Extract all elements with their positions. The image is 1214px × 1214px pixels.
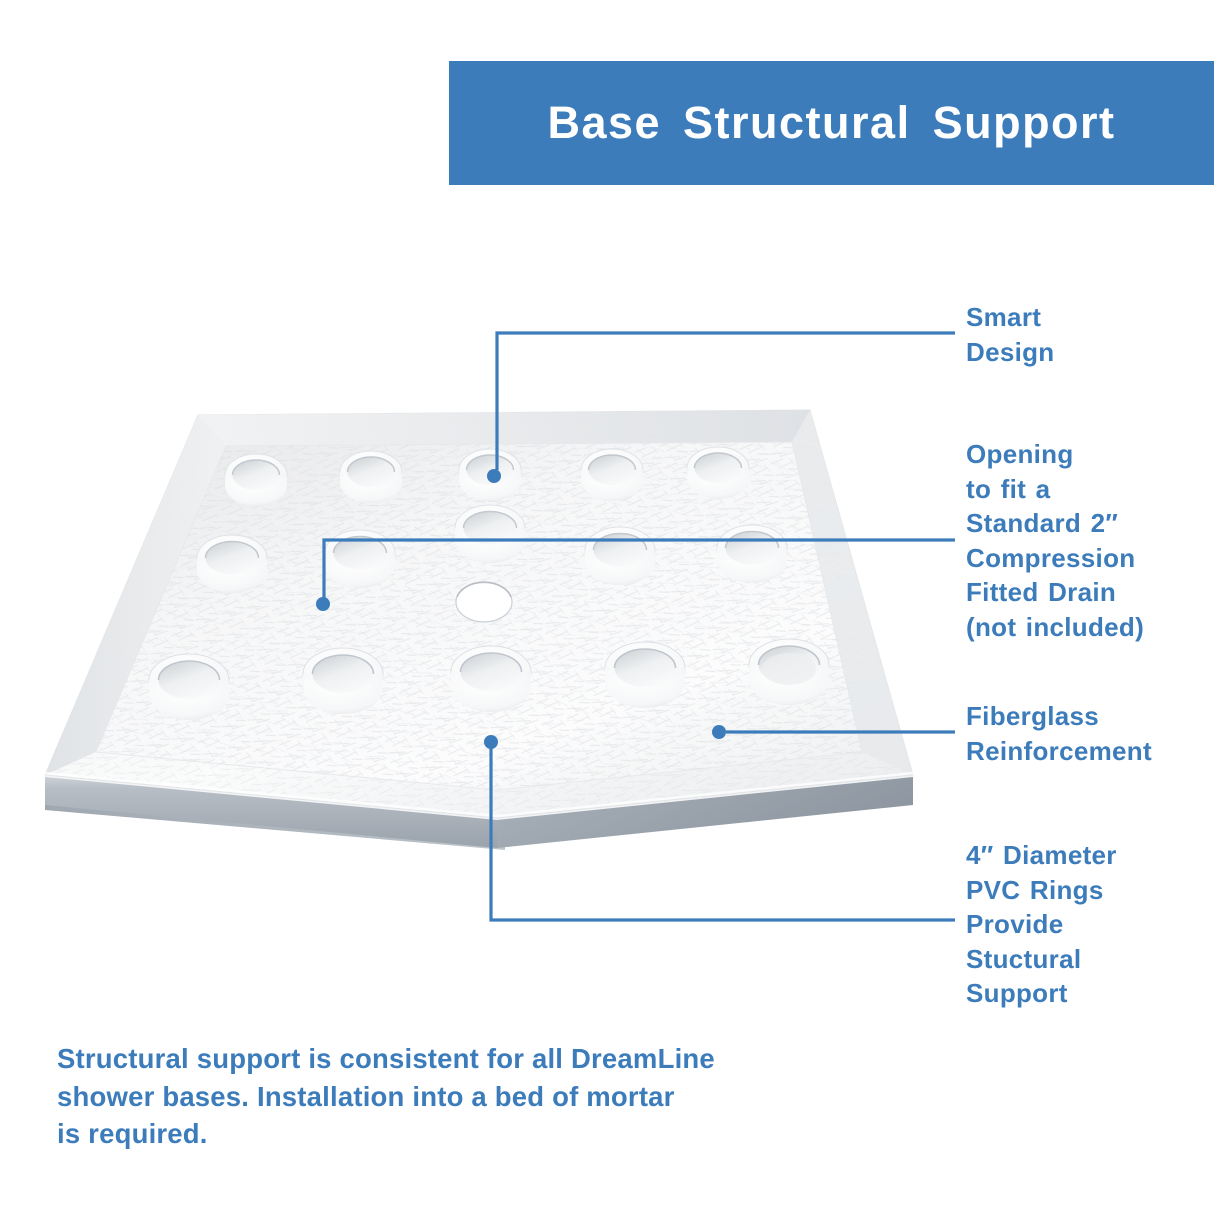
callout-line: 4″ Diameter: [966, 838, 1117, 873]
callout-line: PVC Rings: [966, 873, 1117, 908]
callout-line: Provide: [966, 907, 1117, 942]
callout-line: Compression: [966, 541, 1144, 576]
callout-smart-design: Smart Design: [966, 300, 1054, 369]
callout-opening: Opening to fit a Standard 2″ Compression…: [966, 437, 1144, 644]
callout-line: Standard 2″: [966, 506, 1144, 541]
pvc-ring: [459, 449, 521, 501]
callout-line: Support: [966, 976, 1117, 1011]
pvc-ring: [197, 535, 267, 593]
pvc-ring: [605, 642, 685, 708]
pvc-ring: [149, 654, 229, 720]
callout-line: Smart: [966, 300, 1054, 335]
pvc-ring: [303, 648, 383, 714]
pvc-ring: [340, 451, 402, 503]
drain-opening: [456, 582, 512, 622]
caption-line: shower bases. Installation into a bed of…: [57, 1078, 817, 1116]
pvc-ring: [687, 447, 749, 499]
callout-line: Opening: [966, 437, 1144, 472]
pvc-ring: [581, 449, 643, 501]
caption-line: is required.: [57, 1115, 817, 1153]
pvc-ring: [325, 530, 395, 588]
callout-fiberglass: Fiberglass Reinforcement: [966, 699, 1152, 768]
callout-line: to fit a: [966, 472, 1144, 507]
infographic-page: Base Structural Support: [0, 0, 1214, 1214]
pvc-ring: [717, 525, 787, 583]
callout-line: Stuctural: [966, 942, 1117, 977]
callout-line: Reinforcement: [966, 734, 1152, 769]
caption-line: Structural support is consistent for all…: [57, 1040, 817, 1078]
pvc-ring: [749, 639, 829, 705]
bottom-caption: Structural support is consistent for all…: [57, 1040, 817, 1153]
callout-line: Design: [966, 335, 1054, 370]
pvc-ring: [451, 646, 531, 712]
shower-base-graphic: [0, 380, 960, 850]
pvc-ring: [225, 454, 287, 506]
callout-pvc-rings: 4″ Diameter PVC Rings Provide Stuctural …: [966, 838, 1117, 1011]
callout-line: Fiberglass: [966, 699, 1152, 734]
page-title: Base Structural Support: [547, 97, 1115, 149]
pvc-ring: [585, 527, 655, 585]
pvc-ring: [455, 505, 525, 563]
product-illustration: [0, 380, 960, 850]
callout-line: Fitted Drain: [966, 575, 1144, 610]
header-banner: Base Structural Support: [449, 61, 1214, 185]
callout-line: (not included): [966, 610, 1144, 645]
